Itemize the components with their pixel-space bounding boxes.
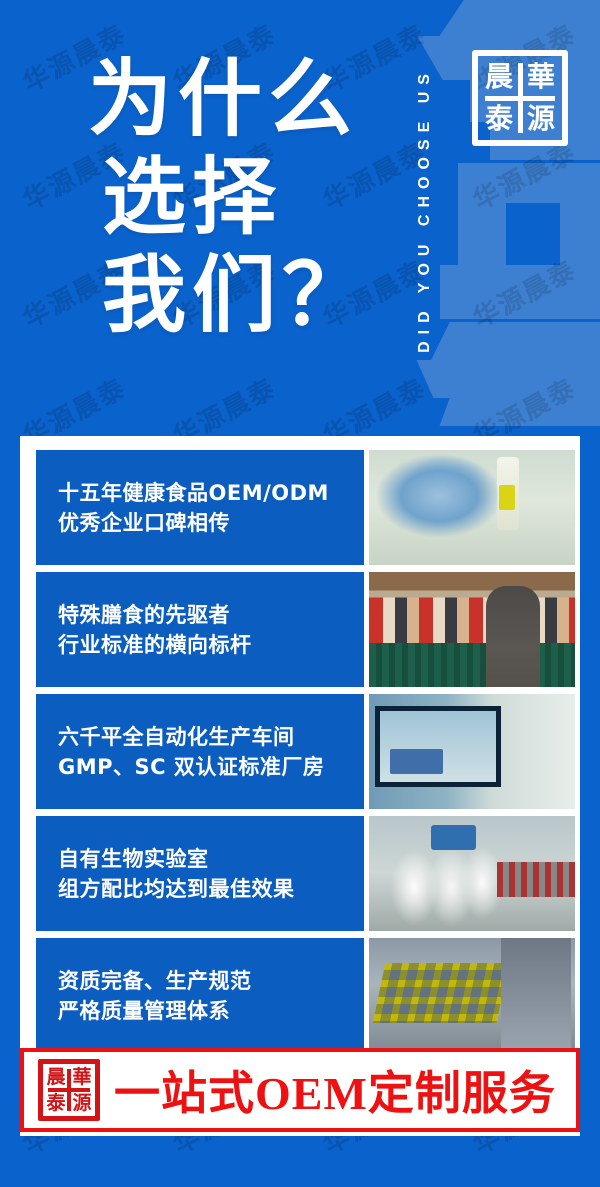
headline-line-3: 我们？ [88,248,418,346]
feature-3-line-1: 六千平全自动化生产车间 [58,722,364,752]
feature-card-3: 六千平全自动化生产车间 GMP、SC 双认证标准厂房 [36,694,364,809]
footer-slogan-band: 晨 華 泰 源 一站式OEM定制服务 [20,1048,580,1132]
footer-slogan-text: 一站式OEM定制服务 [114,1057,556,1123]
headline-line-2: 选择 [88,150,418,248]
feature-row: 特殊膳食的先驱者 行业标准的横向标杆 [36,572,574,687]
why-letter-h-stroke-4 [440,265,600,307]
headline-block: 为什么 选择 我们？ [88,52,418,346]
feature-2-line-1: 特殊膳食的先驱者 [58,600,364,630]
feature-3-line-2: GMP、SC 双认证标准厂房 [58,752,364,782]
seal-divider-horizontal [485,96,555,101]
feature-4-line-2: 组方配比均达到最佳效果 [58,874,364,904]
seal-red-char-bottom-right: 源 [72,1094,91,1113]
poster-root: 华源晨泰华源晨泰华源晨泰华源晨泰华源晨泰华源晨泰华源晨泰华源晨泰华源晨泰华源晨泰… [0,0,600,1187]
feature-5-line-1: 资质完备、生产规范 [58,966,364,996]
feature-2-photo [369,572,575,687]
seal-red-char-top-left: 晨 [46,1068,65,1087]
feature-card-4: 自有生物实验室 组方配比均达到最佳效果 [36,816,364,931]
why-letter-h-stroke-5 [440,307,600,319]
vertical-english-caption: DID YOU CHOOSE US [408,10,442,410]
seal-char-top-right: 華 [527,63,555,91]
features-panel: 十五年健康食品OEM/ODM 优秀企业口碑相传 特殊膳食的先驱者 行业标准的横向… [20,436,580,1136]
watermark-text: 华源晨泰 [431,208,600,383]
feature-1-line-2: 优秀企业口碑相传 [58,508,364,538]
company-seal-white-icon: 晨 華 泰 源 [472,50,568,146]
feature-3-photo [369,694,575,809]
feature-5-photo [369,938,575,1053]
watermark-text: 华源晨泰 [281,1152,469,1187]
why-letter-w-stroke-1 [430,322,600,362]
feature-card-2: 特殊膳食的先驱者 行业标准的横向标杆 [36,572,364,687]
why-letter-y-stroke-1 [439,0,600,36]
watermark-text: 华源晨泰 [431,1152,600,1187]
vertical-english-text: DID YOU CHOOSE US [416,67,434,353]
watermark-text: 华源晨泰 [0,1152,169,1187]
feature-card-5: 资质完备、生产规范 严格质量管理体系 [36,938,364,1053]
feature-row: 自有生物实验室 组方配比均达到最佳效果 [36,816,574,931]
feature-4-photo [369,816,575,931]
feature-card-1: 十五年健康食品OEM/ODM 优秀企业口碑相传 [36,450,364,565]
feature-row: 六千平全自动化生产车间 GMP、SC 双认证标准厂房 [36,694,574,809]
headline-line-1: 为什么 [88,52,418,150]
feature-1-line-1: 十五年健康食品OEM/ODM [58,478,364,508]
seal-red-divider-horizontal [48,1088,90,1092]
seal-red-char-bottom-left: 泰 [46,1094,65,1113]
seal-char-bottom-left: 泰 [485,105,513,133]
feature-4-line-1: 自有生物实验室 [58,844,364,874]
watermark-text: 华源晨泰 [131,1152,319,1187]
feature-1-photo [369,450,575,565]
why-letter-w-stroke-2 [417,360,600,398]
seal-red-char-top-right: 華 [72,1068,91,1087]
why-letter-w-stroke-3 [440,396,600,426]
why-letter-h-stroke-1 [458,163,600,203]
feature-5-line-2: 严格质量管理体系 [58,996,364,1026]
feature-row: 资质完备、生产规范 严格质量管理体系 [36,938,574,1053]
why-letter-h-stroke-3 [560,203,600,265]
company-seal-red-icon: 晨 華 泰 源 [38,1059,100,1121]
why-letter-h-stroke-2 [458,203,506,265]
seal-char-top-left: 晨 [485,63,513,91]
feature-2-line-2: 行业标准的横向标杆 [58,630,364,660]
seal-char-bottom-right: 源 [527,105,555,133]
feature-row: 十五年健康食品OEM/ODM 优秀企业口碑相传 [36,450,574,565]
